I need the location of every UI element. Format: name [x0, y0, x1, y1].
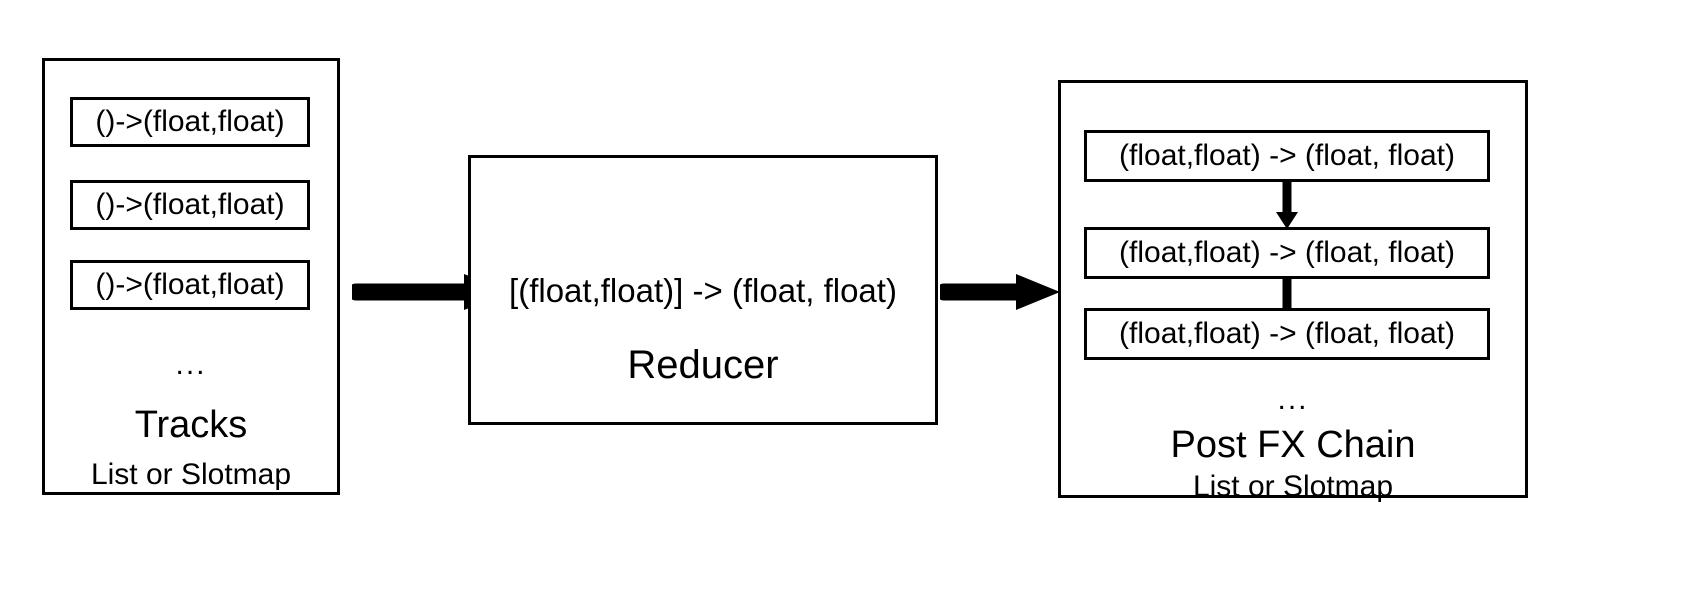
track-item-signature-3: ()->(float,float) — [95, 270, 284, 300]
track-item-signature-1: ()->(float,float) — [95, 107, 284, 137]
tracks-group-subtitle: List or Slotmap — [42, 460, 340, 490]
arrow-fx1-to-fx2 — [1267, 180, 1307, 230]
postfx-group-title: Post FX Chain — [1058, 426, 1528, 464]
postfx-item-box-1[interactable]: (float,float) -> (float, float) — [1084, 130, 1490, 182]
tracks-group-title: Tracks — [42, 406, 340, 444]
track-item-box-1[interactable]: ()->(float,float) — [70, 97, 310, 147]
arrow-reducer-to-postfx — [940, 272, 1062, 312]
postfx-item-box-3[interactable]: (float,float) -> (float, float) — [1084, 308, 1490, 360]
tracks-ellipsis: ... — [42, 350, 340, 380]
flow-diagram: ()->(float,float) ()->(float,float) ()->… — [0, 0, 1694, 600]
track-item-signature-2: ()->(float,float) — [95, 190, 284, 220]
reducer-signature: [(float,float)] -> (float, float) — [468, 274, 938, 307]
postfx-ellipsis: ... — [1058, 385, 1528, 415]
postfx-item-signature-2: (float,float) -> (float, float) — [1119, 238, 1455, 268]
postfx-item-box-2[interactable]: (float,float) -> (float, float) — [1084, 227, 1490, 279]
postfx-item-signature-3: (float,float) -> (float, float) — [1119, 319, 1455, 349]
track-item-box-2[interactable]: ()->(float,float) — [70, 180, 310, 230]
postfx-group-subtitle: List or Slotmap — [1058, 472, 1528, 502]
reducer-name-label: Reducer — [468, 345, 938, 385]
track-item-box-3[interactable]: ()->(float,float) — [70, 260, 310, 310]
postfx-item-signature-1: (float,float) -> (float, float) — [1119, 141, 1455, 171]
